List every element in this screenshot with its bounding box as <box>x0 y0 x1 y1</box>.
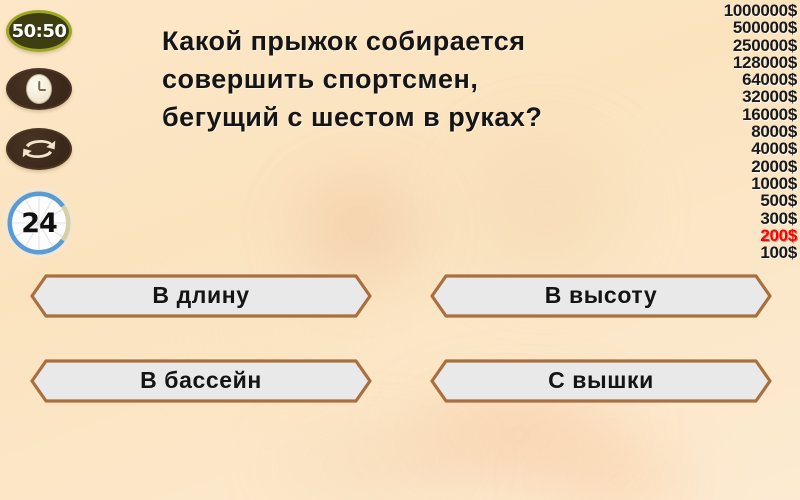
answer-button-3[interactable]: С вышки <box>430 359 772 403</box>
answer-label-2: В бассейн <box>30 359 372 403</box>
answer-options: В длину В высоту В бассейн С вышки <box>0 0 800 500</box>
answer-button-0[interactable]: В длину <box>30 274 372 318</box>
quiz-game-screen: 50:50 <box>0 0 800 500</box>
answer-button-2[interactable]: В бассейн <box>30 359 372 403</box>
timer-value: 24 <box>21 208 57 239</box>
answer-label-3: С вышки <box>430 359 772 403</box>
answer-label-0: В длину <box>30 274 372 318</box>
answer-button-1[interactable]: В высоту <box>430 274 772 318</box>
answer-label-1: В высоту <box>430 274 772 318</box>
